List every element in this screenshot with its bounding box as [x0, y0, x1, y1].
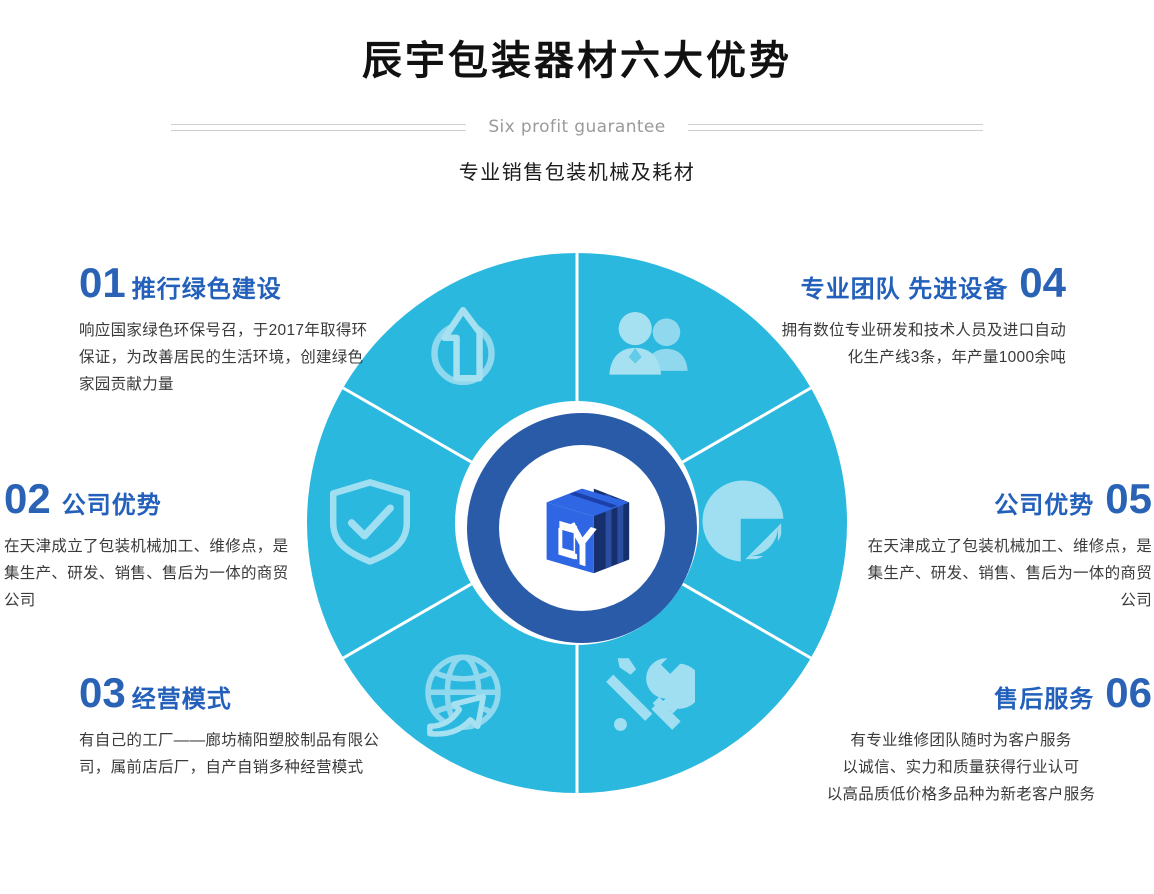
- item-03-heading: 03 经营模式: [79, 672, 391, 714]
- center-hub: [462, 408, 692, 638]
- item-02-number: 02: [4, 478, 51, 520]
- item-04-body: 拥有数位专业研发和技术人员及进口自动化生产线3条，年产量1000余吨: [778, 317, 1066, 371]
- item-05-body: 在天津成立了包装机械加工、维修点，是集生产、研发、销售、售后为一体的商贸公司: [856, 533, 1152, 614]
- advantage-item-04: 专业团队 先进设备 04 拥有数位专业研发和技术人员及进口自动化生产线3条，年产…: [778, 262, 1066, 371]
- advantage-item-02: 02 公司优势 在天津成立了包装机械加工、维修点，是集生产、研发、销售、售后为一…: [4, 478, 292, 614]
- header: 辰宇包装器材六大优势 Six profit guarantee 专业销售包装机械…: [0, 0, 1154, 200]
- page-title: 辰宇包装器材六大优势: [0, 34, 1154, 88]
- item-05-heading: 公司优势 05: [856, 478, 1152, 520]
- divider-line-left: [171, 124, 466, 131]
- item-03-body: 有自己的工厂——廊坊楠阳塑胶制品有限公司，属前店后厂，自产自销多种经营模式: [79, 727, 391, 781]
- advantage-item-03: 03 经营模式 有自己的工厂——廊坊楠阳塑胶制品有限公司，属前店后厂，自产自销多…: [79, 672, 391, 781]
- subtitle-divider: Six profit guarantee: [0, 110, 1154, 144]
- item-01-body: 响应国家绿色环保号召，于2017年取得环保证，为改善居民的生活环境，创建绿色家园…: [79, 317, 379, 398]
- item-06-body: 有专业维修团队随时为客户服务 以诚信、实力和质量获得行业认可 以高品质低价格多品…: [770, 727, 1152, 808]
- item-01-title: 推行绿色建设: [132, 278, 282, 302]
- item-04-number: 04: [1019, 262, 1066, 304]
- item-06-heading: 售后服务 06: [770, 672, 1152, 714]
- infographic-page: 辰宇包装器材六大优势 Six profit guarantee 专业销售包装机械…: [0, 0, 1154, 894]
- subtitle-english: Six profit guarantee: [488, 117, 665, 137]
- item-02-heading: 02 公司优势: [4, 478, 292, 520]
- item-02-title: 公司优势: [62, 494, 162, 518]
- item-05-title: 公司优势: [994, 494, 1094, 518]
- cy-package-box-logo: [523, 469, 641, 587]
- advantage-item-05: 公司优势 05 在天津成立了包装机械加工、维修点，是集生产、研发、销售、售后为一…: [856, 478, 1152, 614]
- item-04-heading: 专业团队 先进设备 04: [778, 262, 1066, 304]
- item-03-title: 经营模式: [132, 688, 232, 712]
- item-02-body: 在天津成立了包装机械加工、维修点，是集生产、研发、销售、售后为一体的商贸公司: [4, 533, 292, 614]
- divider-line-right: [688, 124, 983, 131]
- item-05-number: 05: [1105, 478, 1152, 520]
- hub-inner-disc: [499, 445, 665, 611]
- item-06-number: 06: [1105, 672, 1152, 714]
- advantage-item-01: 01 推行绿色建设 响应国家绿色环保号召，于2017年取得环保证，为改善居民的生…: [79, 262, 379, 398]
- item-01-number: 01: [79, 262, 126, 304]
- advantage-item-06: 售后服务 06 有专业维修团队随时为客户服务 以诚信、实力和质量获得行业认可 以…: [770, 672, 1152, 808]
- item-06-title: 售后服务: [994, 688, 1094, 712]
- item-04-title: 专业团队 先进设备: [801, 278, 1009, 302]
- item-01-heading: 01 推行绿色建设: [79, 262, 379, 304]
- subtitle-chinese: 专业销售包装机械及耗材: [0, 156, 1154, 185]
- item-03-number: 03: [79, 672, 126, 714]
